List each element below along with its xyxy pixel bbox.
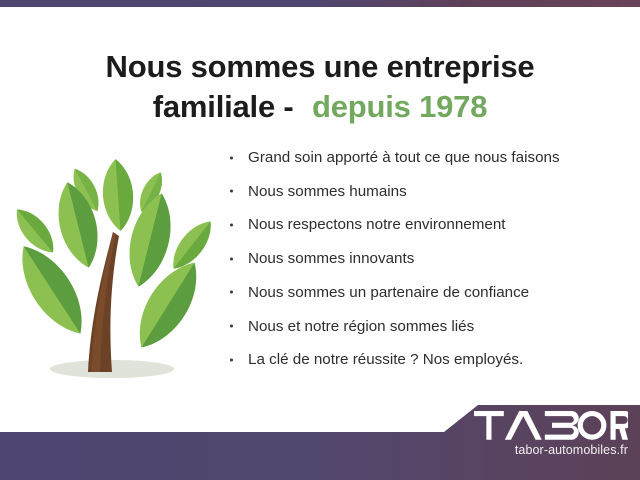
brand-url[interactable]: tabor-automobiles.fr — [456, 443, 628, 457]
tree-shadow — [50, 360, 174, 378]
top-accent-strip — [0, 0, 640, 7]
bullet-dot-icon — [230, 224, 233, 227]
bullet-dot-icon — [230, 257, 233, 260]
list-item-label: Nous respectons notre environnement — [248, 216, 506, 233]
page-title-line-1: Nous sommes une entreprise — [106, 49, 535, 84]
list-item: Nous sommes un partenaire de confiance — [228, 285, 628, 300]
slide-canvas: Nous sommes une entreprise familiale - d… — [0, 0, 640, 480]
list-item: Nous sommes humains — [228, 184, 628, 199]
list-item: La clé de notre réussite ? Nos employés. — [228, 352, 628, 367]
list-item-label: La clé de notre réussite ? Nos employés. — [248, 351, 523, 368]
bullet-dot-icon — [230, 291, 233, 294]
list-item-label: Nous sommes humains — [248, 183, 407, 200]
bullet-dot-icon — [230, 156, 233, 159]
list-item: Nous et notre région sommes liés — [228, 319, 628, 334]
list-item-label: Grand soin apporté à tout ce que nous fa… — [248, 149, 560, 166]
page-title-accent: depuis 1978 — [312, 89, 487, 124]
bullet-dot-icon — [230, 190, 233, 193]
list-item-label: Nous sommes un partenaire de confiance — [248, 284, 529, 301]
tabor-wordmark-icon[interactable] — [474, 411, 628, 440]
benefits-list: Grand soin apporté à tout ce que nous fa… — [228, 150, 628, 386]
page-title-line-2-static: familiale - — [153, 89, 302, 124]
brand-logo[interactable]: tabor-automobiles.fr — [456, 411, 628, 457]
bullet-dot-icon — [230, 325, 233, 328]
bullet-dot-icon — [230, 358, 233, 361]
list-item: Nous sommes innovants — [228, 251, 628, 266]
page-title: Nous sommes une entreprise familiale - d… — [0, 47, 640, 128]
tree-illustration — [8, 150, 218, 390]
tree-icon — [8, 150, 218, 390]
list-item: Nous respectons notre environnement — [228, 217, 628, 232]
page-title-line-2: familiale - depuis 1978 — [0, 87, 640, 127]
list-item-label: Nous sommes innovants — [248, 250, 414, 267]
list-item-label: Nous et notre région sommes liés — [248, 318, 474, 335]
list-item: Grand soin apporté à tout ce que nous fa… — [228, 150, 628, 165]
